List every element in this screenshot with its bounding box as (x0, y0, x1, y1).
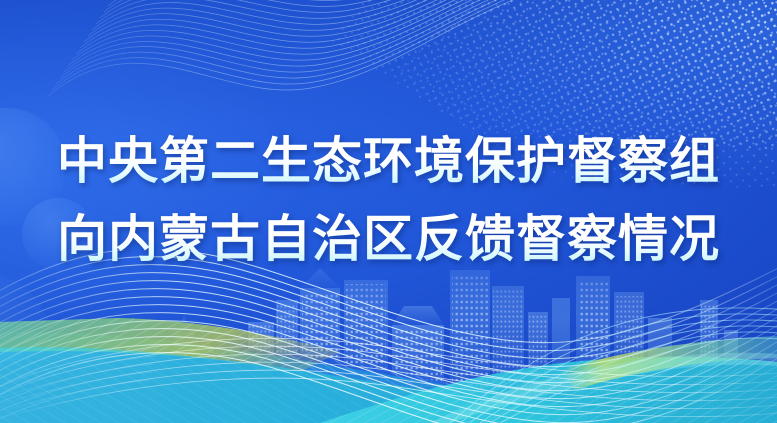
banner-title-line-1: 中央第二生态环境保护督察组 (0, 122, 777, 200)
news-banner: 中央第二生态环境保护督察组 向内蒙古自治区反馈督察情况 (0, 0, 777, 423)
banner-title-line-2: 向内蒙古自治区反馈督察情况 (0, 200, 777, 278)
banner-title-block: 中央第二生态环境保护督察组 向内蒙古自治区反馈督察情况 (0, 122, 777, 278)
glow-circle-lower (0, 272, 54, 422)
